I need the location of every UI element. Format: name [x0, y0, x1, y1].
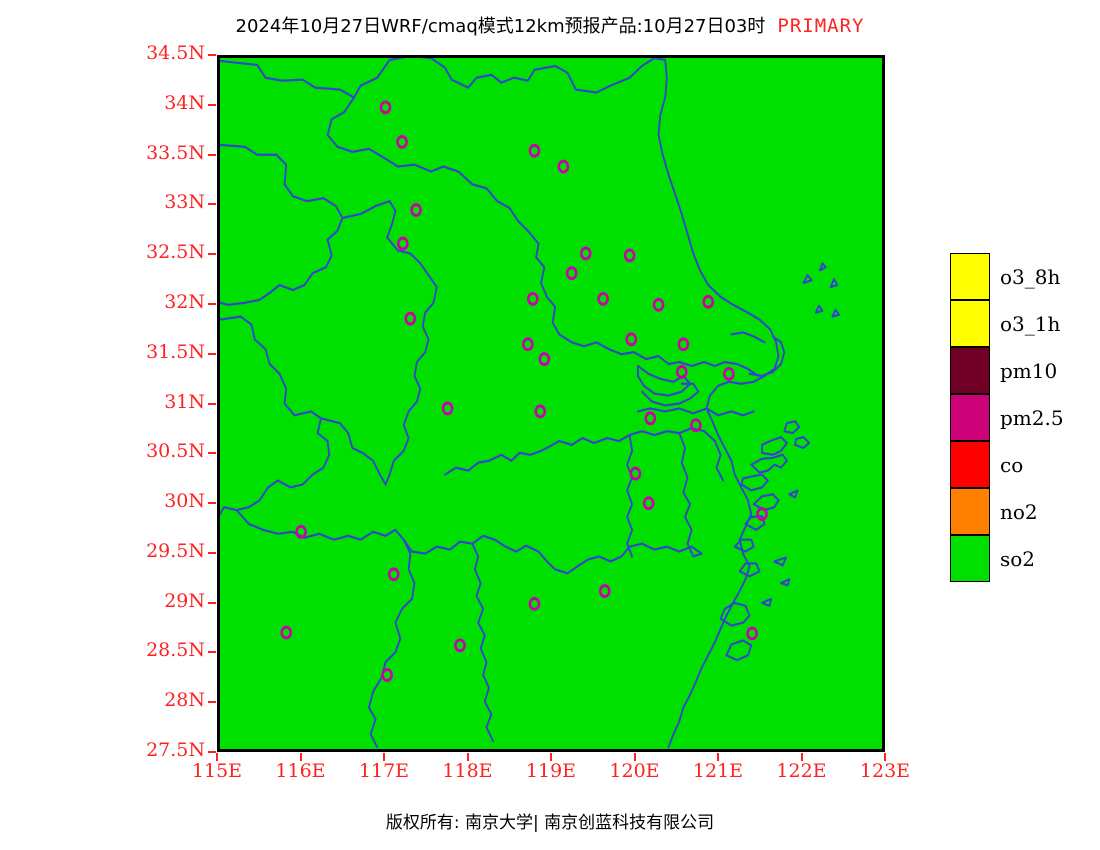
- station-marker: [599, 293, 608, 304]
- y-axis-tick-label: 34.5N: [135, 42, 205, 64]
- page-title: 2024年10月27日WRF/cmaq模式12km预报产品:10月27日03时P…: [0, 12, 1100, 38]
- station-marker: [646, 413, 655, 424]
- station-marker: [397, 136, 406, 147]
- y-axis-tick-mark: [208, 502, 216, 504]
- y-axis-tick-label: 30N: [135, 490, 205, 512]
- station-marker: [528, 293, 537, 304]
- x-axis-tick-label: 121E: [688, 760, 748, 782]
- legend-color-swatch: [950, 441, 990, 488]
- station-marker: [679, 339, 688, 350]
- x-axis-tick-label: 116E: [271, 760, 331, 782]
- administrative-boundaries: [220, 58, 839, 747]
- map-plot-area[interactable]: [217, 55, 885, 752]
- station-marker: [644, 498, 653, 509]
- copyright-footer: 版权所有: 南京大学| 南京创蓝科技有限公司: [0, 808, 1100, 833]
- station-marker: [536, 406, 545, 417]
- y-axis-tick-label: 28.5N: [135, 639, 205, 661]
- x-axis-tick-mark: [300, 753, 302, 761]
- legend-label: o3_8h: [1000, 265, 1060, 289]
- y-axis-tick-mark: [208, 54, 216, 56]
- station-marker: [654, 299, 663, 310]
- legend-label: co: [1000, 453, 1023, 477]
- y-axis-tick-mark: [208, 353, 216, 355]
- y-axis-tick-label: 29.5N: [135, 540, 205, 562]
- station-marker: [412, 205, 421, 216]
- x-axis-tick-mark: [216, 753, 218, 761]
- station-marker: [443, 403, 452, 414]
- x-axis-tick-label: 122E: [772, 760, 832, 782]
- station-marker: [381, 102, 390, 113]
- y-axis-tick-label: 28N: [135, 689, 205, 711]
- legend-label: no2: [1000, 500, 1038, 524]
- title-primary-badge: PRIMARY: [765, 15, 864, 37]
- x-axis-tick-label: 123E: [855, 760, 915, 782]
- y-axis-tick-label: 32N: [135, 291, 205, 313]
- legend-color-swatch: [950, 535, 990, 582]
- y-axis-tick-mark: [208, 602, 216, 604]
- x-axis-tick-label: 117E: [354, 760, 414, 782]
- y-axis-tick-mark: [208, 154, 216, 156]
- station-marker: [559, 161, 568, 172]
- y-axis-tick-label: 27.5N: [135, 739, 205, 761]
- station-marker: [600, 586, 609, 597]
- station-marker: [389, 569, 398, 580]
- station-marker: [455, 640, 464, 651]
- x-axis-tick-label: 115E: [187, 760, 247, 782]
- x-axis-tick-mark: [717, 753, 719, 761]
- station-marker: [631, 468, 640, 479]
- station-marker: [406, 313, 415, 324]
- y-axis-tick-mark: [208, 701, 216, 703]
- station-marker: [627, 334, 636, 345]
- station-markers: [282, 102, 767, 680]
- station-marker: [398, 238, 407, 249]
- station-marker: [530, 145, 539, 156]
- x-axis-tick-mark: [801, 753, 803, 761]
- x-axis-tick-mark: [550, 753, 552, 761]
- legend-color-swatch: [950, 253, 990, 300]
- legend-color-swatch: [950, 394, 990, 441]
- y-axis-tick-mark: [208, 751, 216, 753]
- legend-label: pm2.5: [1000, 406, 1064, 430]
- legend-color-swatch: [950, 300, 990, 347]
- x-axis-tick-mark: [634, 753, 636, 761]
- legend-color-swatch: [950, 488, 990, 535]
- x-axis-tick-label: 119E: [521, 760, 581, 782]
- x-axis-tick-label: 118E: [438, 760, 498, 782]
- y-axis-tick-mark: [208, 253, 216, 255]
- station-marker: [625, 250, 634, 261]
- legend-label: pm10: [1000, 359, 1057, 383]
- y-axis-tick-label: 30.5N: [135, 440, 205, 462]
- x-axis-tick-mark: [467, 753, 469, 761]
- y-axis-tick-label: 34N: [135, 92, 205, 114]
- y-axis-tick-mark: [208, 452, 216, 454]
- y-axis-tick-label: 33.5N: [135, 142, 205, 164]
- y-axis-tick-label: 29N: [135, 590, 205, 612]
- station-marker: [530, 598, 539, 609]
- station-marker: [581, 248, 590, 259]
- station-marker: [540, 354, 549, 365]
- station-marker: [383, 670, 392, 681]
- y-axis-tick-mark: [208, 552, 216, 554]
- x-axis-tick-label: 120E: [605, 760, 665, 782]
- y-axis-tick-mark: [208, 203, 216, 205]
- y-axis-tick-label: 33N: [135, 191, 205, 213]
- x-axis-tick-mark: [383, 753, 385, 761]
- station-marker: [523, 339, 532, 350]
- legend-label: o3_1h: [1000, 312, 1060, 336]
- station-marker: [567, 268, 576, 279]
- y-axis-tick-label: 31N: [135, 391, 205, 413]
- y-axis-tick-mark: [208, 104, 216, 106]
- y-axis-tick-label: 31.5N: [135, 341, 205, 363]
- legend-label: so2: [1000, 547, 1035, 571]
- station-marker: [282, 627, 291, 638]
- station-marker: [724, 368, 733, 379]
- station-marker: [704, 296, 713, 307]
- y-axis-tick-mark: [208, 303, 216, 305]
- x-axis-tick-mark: [884, 753, 886, 761]
- y-axis-tick-label: 32.5N: [135, 241, 205, 263]
- station-marker: [748, 628, 757, 639]
- title-main-text: 2024年10月27日WRF/cmaq模式12km预报产品:10月27日03时: [236, 16, 766, 37]
- map-canvas: [220, 58, 882, 749]
- y-axis-tick-mark: [208, 651, 216, 653]
- legend-color-swatch: [950, 347, 990, 394]
- y-axis-tick-mark: [208, 403, 216, 405]
